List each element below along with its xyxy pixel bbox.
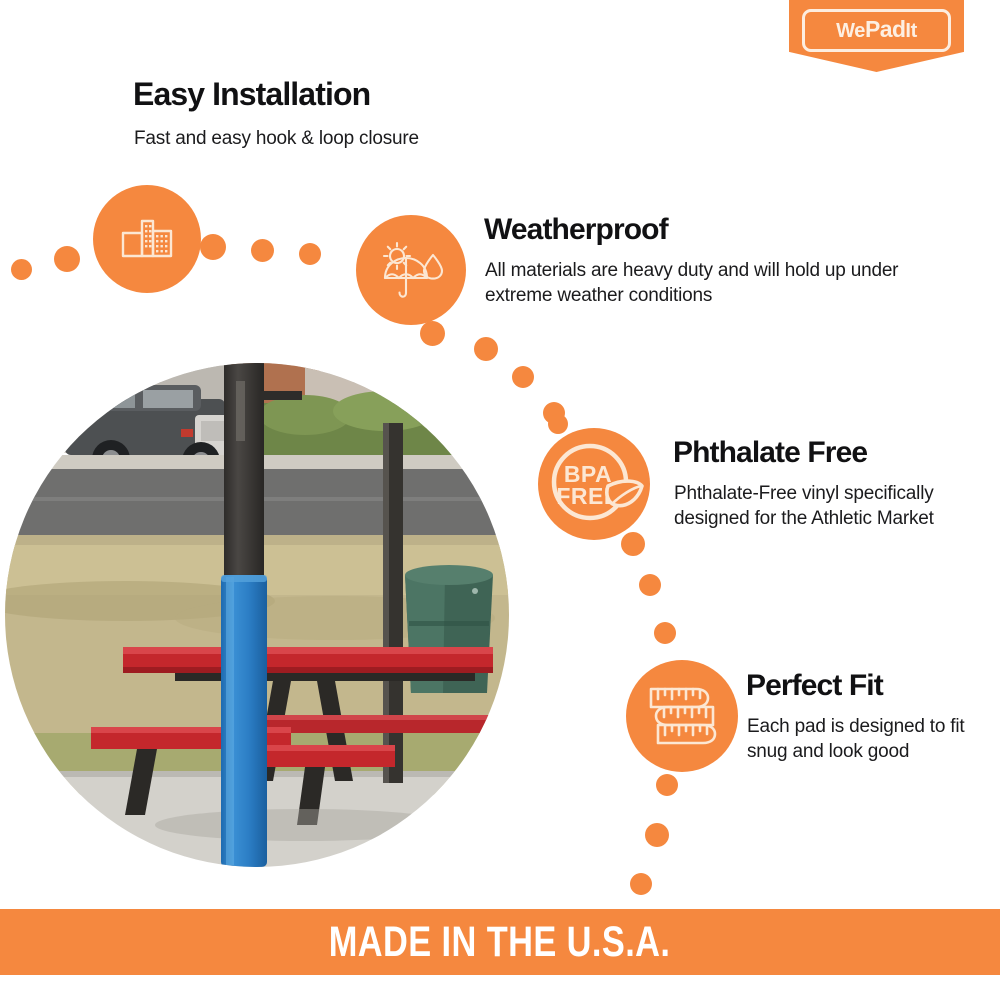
brand-logo[interactable]: WePadIt [789,0,964,72]
trail-dot [630,873,652,895]
building-icon [93,185,201,293]
feature-desc-phthalate-free: Phthalate-Free vinyl specifically design… [674,481,934,531]
feature-title-weatherproof: Weatherproof [484,214,668,246]
measuring-tape-icon [626,660,738,772]
logo-text-pad: Pad [865,16,905,42]
trail-dot [11,259,32,280]
trail-dot [420,321,445,346]
trail-dot [200,234,226,260]
logo-text-we: We [836,20,865,42]
trail-dot [656,774,678,796]
trail-dot [54,246,80,272]
trail-dot [251,239,274,262]
trail-dot [654,622,676,644]
trail-dot [299,243,321,265]
trail-dot [645,823,669,847]
feature-desc-weatherproof: All materials are heavy duty and will ho… [485,258,915,308]
logo-outline-box: WePadIt [802,9,951,52]
feature-title-easy-installation: Easy Installation [133,78,370,112]
trail-dot [474,337,498,361]
trail-dot [639,574,661,596]
made-in-usa-text: MADE IN THE U.S.A. [329,918,671,967]
trail-dot [512,366,534,388]
feature-desc-perfect-fit: Each pad is designed to fit snug and loo… [747,714,972,764]
sun-umbrella-raindrop-icon [356,215,466,325]
made-in-usa-banner: MADE IN THE U.S.A. [0,909,1000,975]
feature-desc-easy-installation: Fast and easy hook & loop closure [134,126,419,151]
logo-wordmark: WePadIt [836,18,917,41]
product-photo [5,363,509,867]
bpa-free-leaf-icon: BPA FREE [538,428,650,540]
feature-title-perfect-fit: Perfect Fit [746,670,883,702]
feature-title-phthalate-free: Phthalate Free [673,437,867,469]
logo-text-it: It [905,20,916,42]
infographic-canvas: WePadIt [0,0,1000,987]
